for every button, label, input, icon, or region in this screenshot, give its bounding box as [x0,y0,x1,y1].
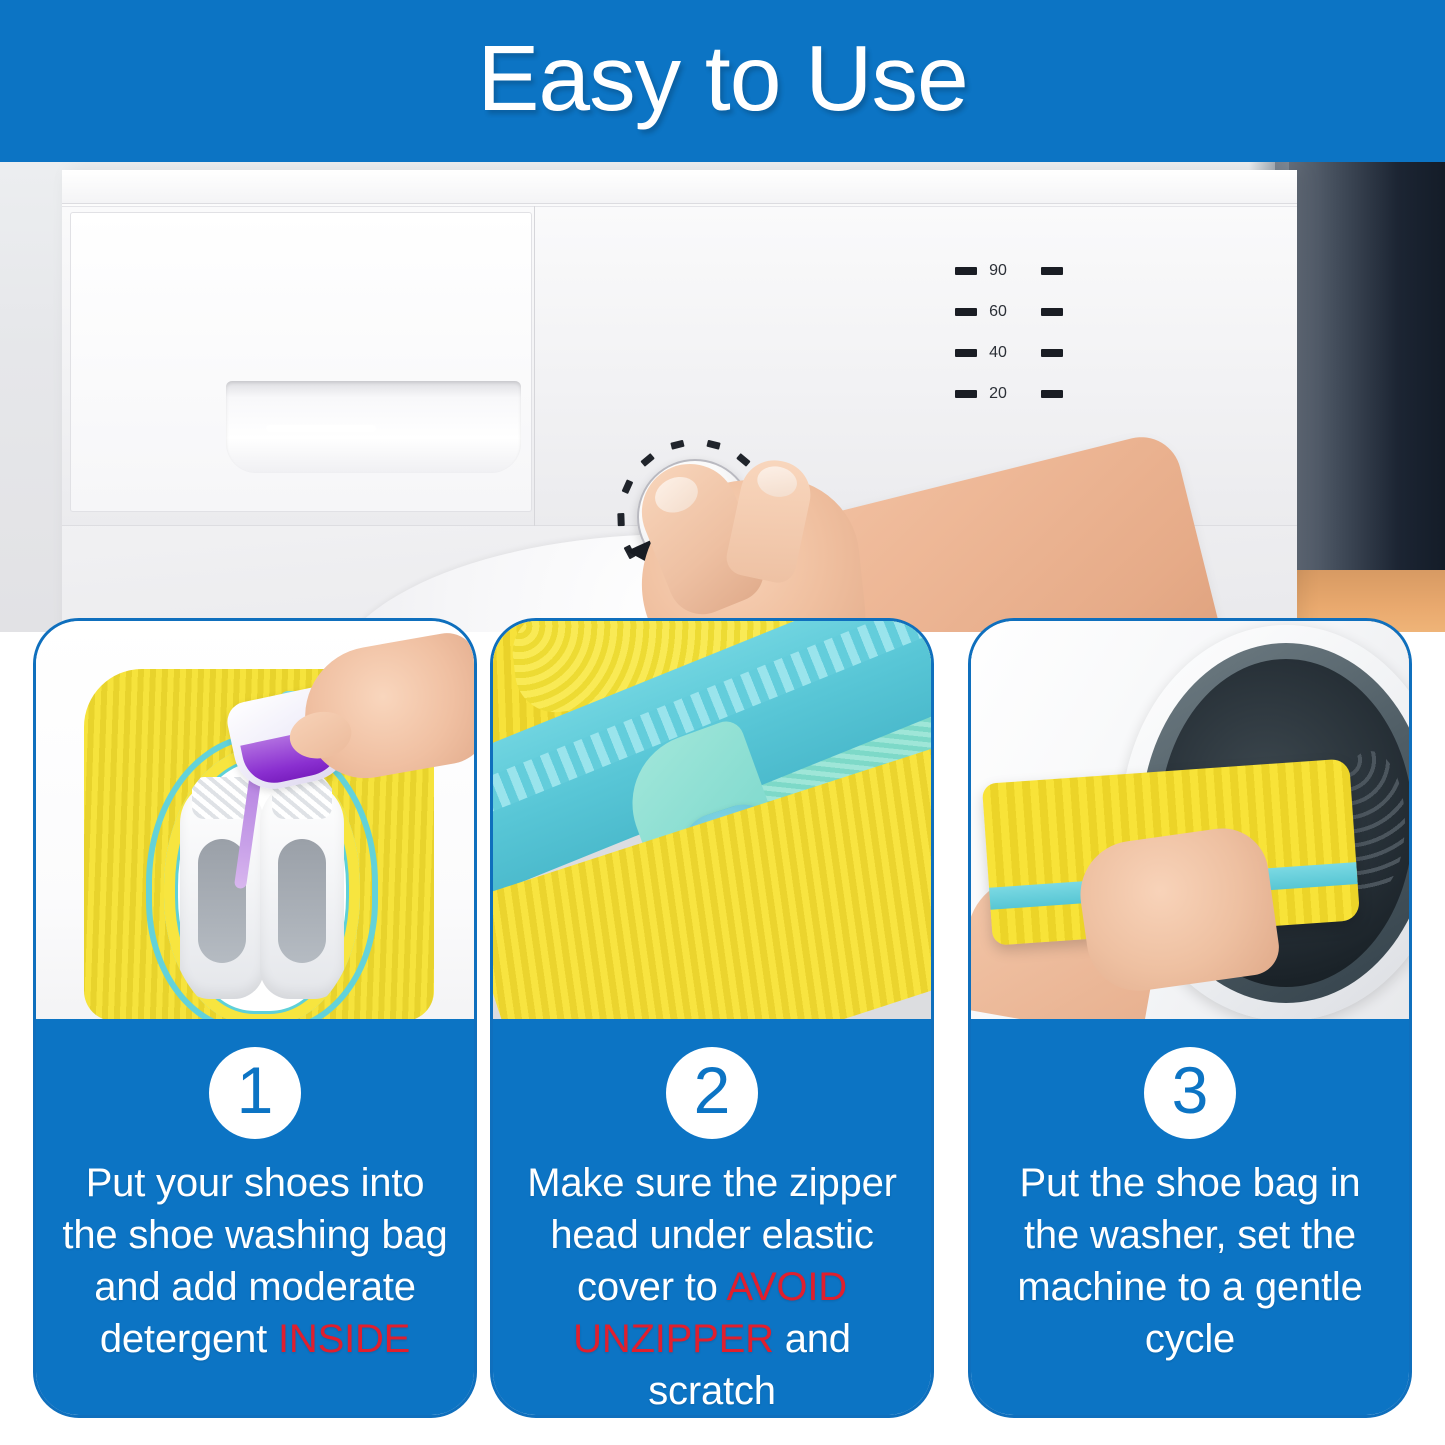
step-2-text-block: 2 Make sure the zipper head under elasti… [493,1019,931,1415]
led-row: 90 [955,256,1063,286]
hero-photo-washing-machine: 90 60 40 20 Temp. Start/Pause Ein/Aus [0,162,1445,632]
step-2-photo [493,621,931,1025]
hero-cabinet [1275,162,1445,632]
led-label: 40 [977,344,1019,362]
led-indicator-icon [1041,390,1063,398]
step-number-2: 2 [694,1057,731,1123]
led-indicator-icon [955,349,977,357]
led-indicator-icon [1041,267,1063,275]
led-indicator-icon [1041,349,1063,357]
step-number-badge-3: 3 [1144,1047,1236,1139]
step-number-badge-2: 2 [666,1047,758,1139]
step-number-badge-1: 1 [209,1047,301,1139]
step-2-caption: Make sure the zipper head under elastic … [512,1157,912,1417]
console-seam [534,206,535,526]
led-indicator-icon [955,267,977,275]
temperature-indicator-leds: 90 60 40 20 [955,256,1063,420]
step-card-2: 2 Make sure the zipper head under elasti… [490,618,934,1418]
step-1-photo [36,621,474,1025]
step-number-1: 1 [237,1057,274,1123]
step-card-3: 3 Put the shoe bag in the washer, set th… [968,618,1412,1418]
steps-section: 1 Put your shoes into the shoe washing b… [0,618,1445,1445]
page-title: Easy to Use [477,32,967,125]
hand-loading-bag [1073,823,1282,998]
header-banner: Easy to Use [0,0,1445,162]
step-1-caption-emphasis: INSIDE [278,1317,410,1361]
step-card-1: 1 Put your shoes into the shoe washing b… [33,618,477,1418]
led-row: 20 [955,379,1063,409]
led-indicator-icon [955,308,977,316]
led-row: 40 [955,338,1063,368]
washer-top-panel [62,170,1297,204]
led-label: 20 [977,385,1019,403]
step-3-photo [971,621,1409,1025]
led-label: 60 [977,303,1019,321]
step-3-text-block: 3 Put the shoe bag in the washer, set th… [971,1019,1409,1415]
step-1-caption: Put your shoes into the shoe washing bag… [55,1157,455,1365]
step-3-caption-plain: Put the shoe bag in the washer, set the … [1017,1161,1362,1361]
step-1-text-block: 1 Put your shoes into the shoe washing b… [36,1019,474,1415]
led-row: 60 [955,297,1063,327]
step-number-3: 3 [1172,1057,1209,1123]
detergent-drawer[interactable] [70,212,532,512]
step-3-caption: Put the shoe bag in the washer, set the … [990,1157,1390,1365]
led-indicator-icon [1041,308,1063,316]
detergent-drawer-handle[interactable] [226,381,521,473]
led-label: 90 [977,262,1019,280]
led-indicator-icon [955,390,977,398]
